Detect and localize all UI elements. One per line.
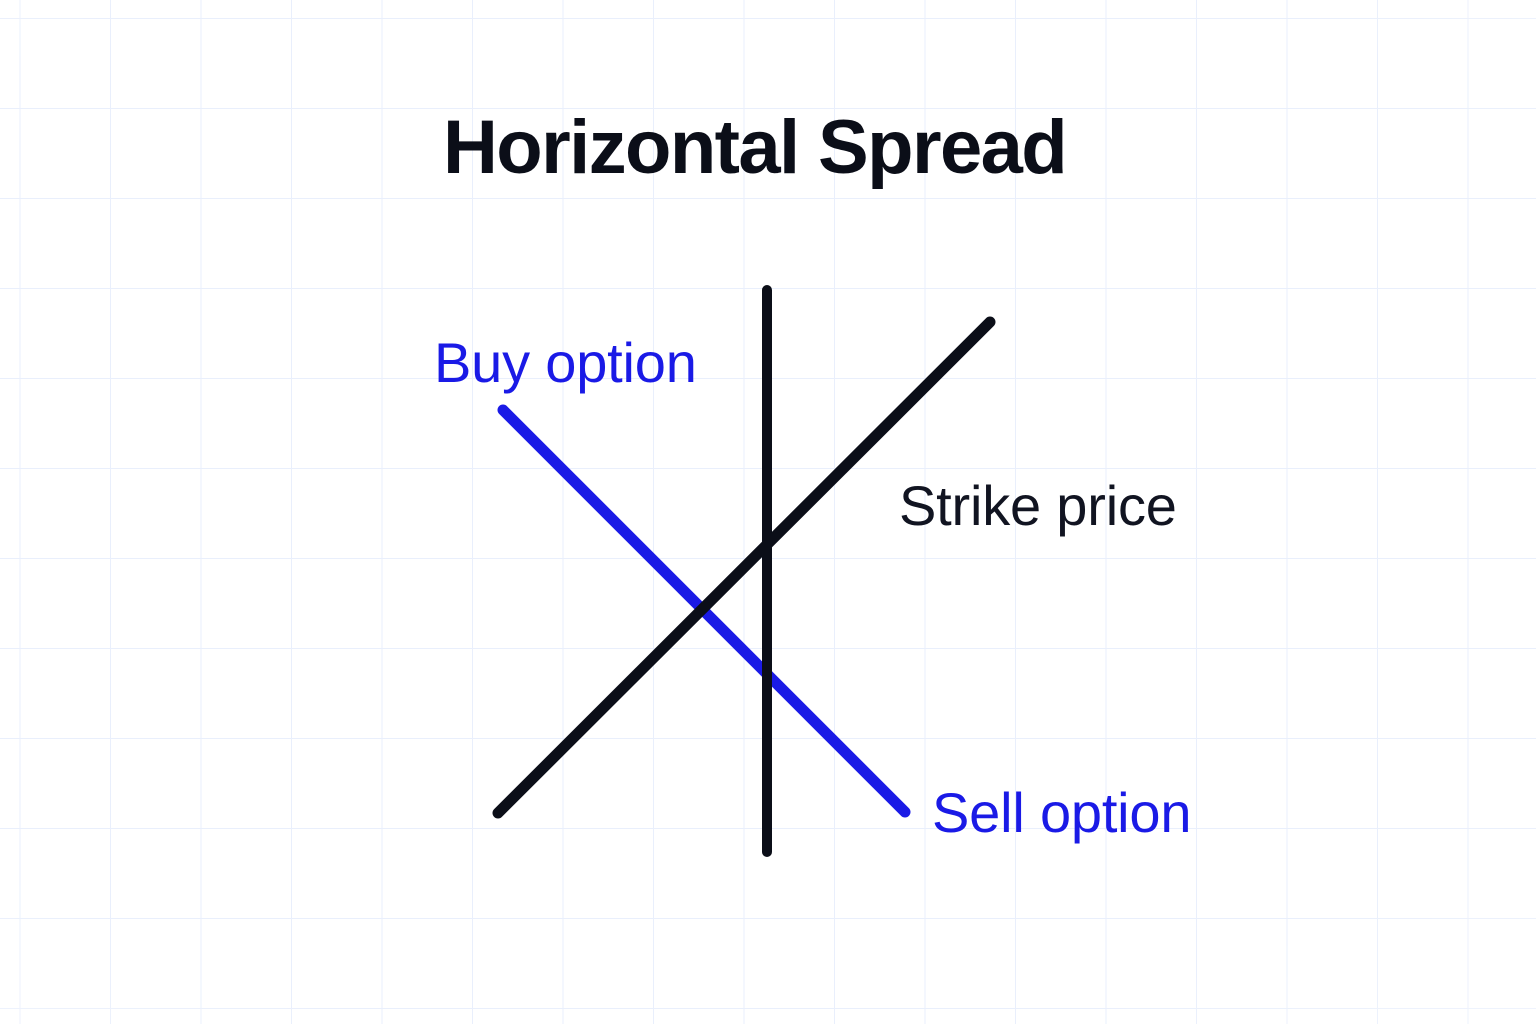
sell-option-line: [498, 322, 990, 813]
buy-option-label: Buy option: [434, 330, 697, 395]
sell-option-label: Sell option: [932, 780, 1191, 845]
strike-price-label: Strike price: [899, 473, 1177, 538]
page-title: Horizontal Spread: [443, 104, 1066, 191]
diagram-canvas: Horizontal Spread Buy option Strike pric…: [0, 0, 1536, 1024]
